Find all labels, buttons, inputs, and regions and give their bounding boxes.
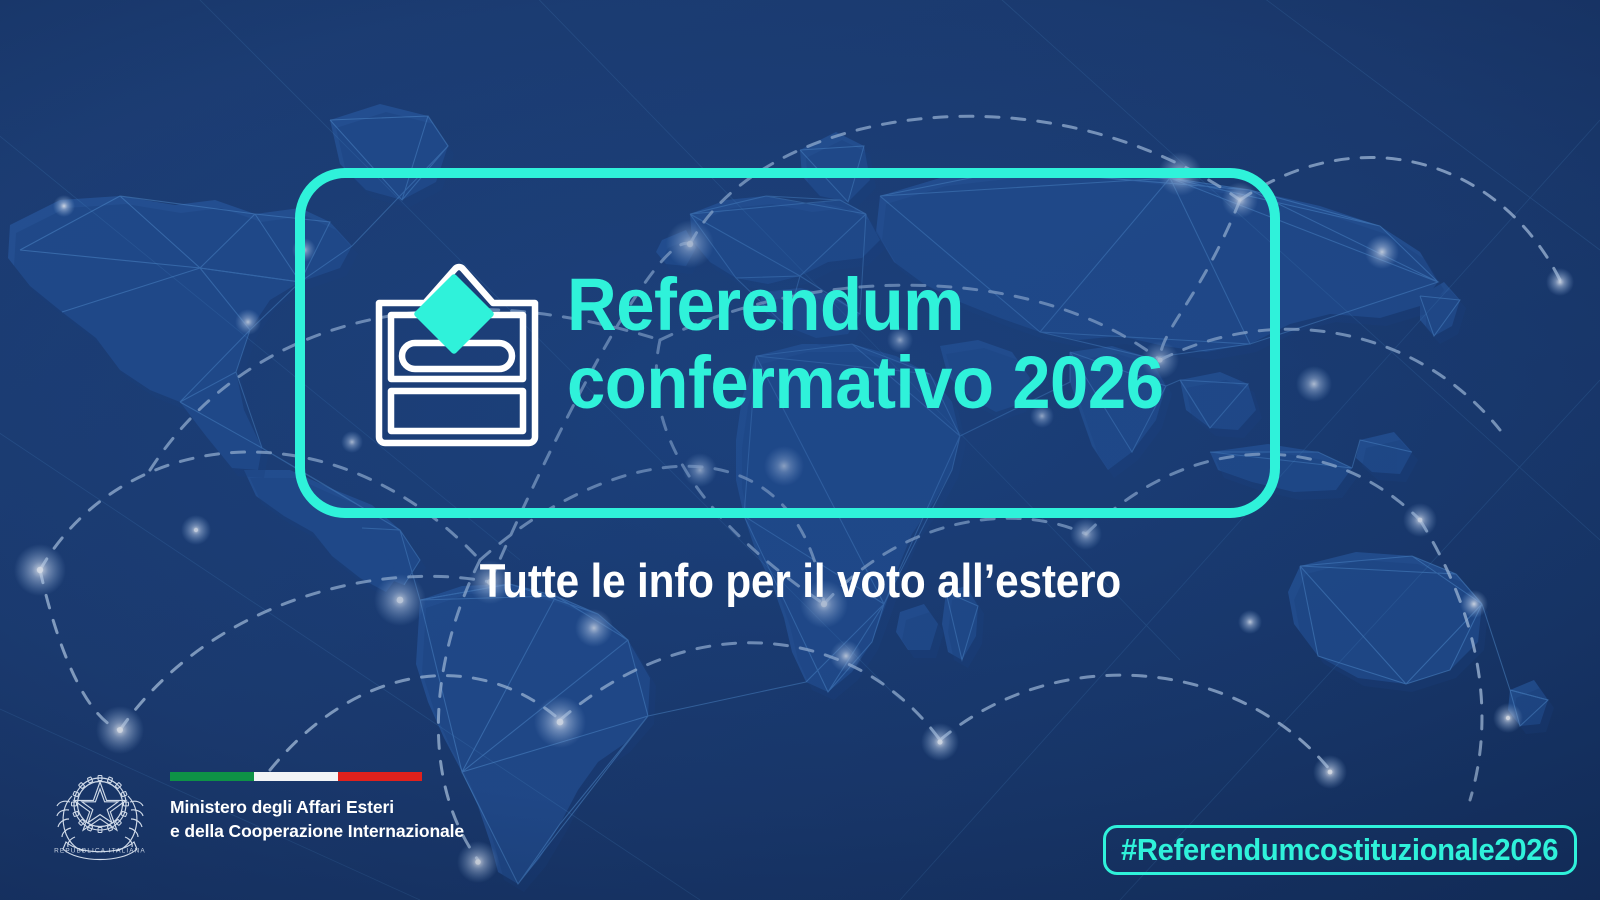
emblem-ribbon-text: REPUBBLICA ITALIANA (54, 848, 146, 855)
hashtag-label: #Referendumcostituzionale2026 (1121, 832, 1558, 868)
tricolor-green (170, 772, 254, 781)
italy-tricolor-bar (170, 772, 422, 781)
hero-title-line-2: confermativo 2026 (567, 344, 1218, 422)
ministry-lockup: REPUBBLICA ITALIANA Ministero degli Affa… (46, 752, 464, 864)
subtitle-text: Tutte le info per il voto all’estero (479, 552, 1120, 610)
hero-card: Referendum confermativo 2026 (295, 168, 1280, 518)
ballot-box-icon (365, 233, 565, 448)
banner-canvas: Referendum confermativo 2026 Tutte le in… (0, 0, 1600, 900)
subtitle: Tutte le info per il voto all’estero (0, 552, 1600, 610)
tricolor-white (254, 772, 338, 781)
ministry-name-line-2: e della Cooperazione Internazionale (170, 819, 464, 843)
ministry-name-line-1: Ministero degli Affari Esteri (170, 795, 464, 819)
hashtag-badge[interactable]: #Referendumcostituzionale2026 (1103, 825, 1577, 875)
tricolor-red (338, 772, 422, 781)
italian-republic-emblem: REPUBBLICA ITALIANA (46, 752, 154, 864)
hero-title-block: Referendum confermativo 2026 (567, 266, 1267, 422)
hero-title-line-1: Referendum (567, 266, 1218, 344)
